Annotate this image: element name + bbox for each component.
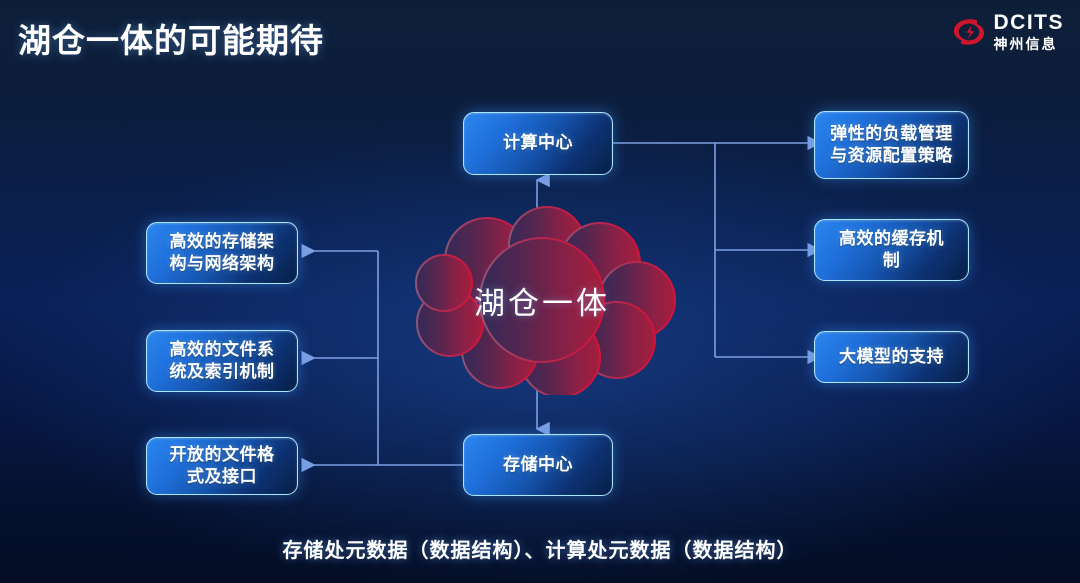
node-storage-architecture-label: 高效的存储架 构与网络架构 xyxy=(170,231,275,276)
node-storage-center-label: 存储中心 xyxy=(503,454,573,476)
node-large-model-support[interactable]: 大模型的支持 xyxy=(814,331,969,383)
footer-caption: 存储处元数据（数据结构）、计算处元数据（数据结构） xyxy=(0,534,1080,563)
node-file-system-label: 高效的文件系 统及索引机制 xyxy=(170,339,275,384)
node-compute-center[interactable]: 计算中心 xyxy=(463,112,613,175)
node-large-model-support-label: 大模型的支持 xyxy=(839,346,944,368)
page-title: 湖仓一体的可能期待 xyxy=(18,14,324,62)
node-file-format[interactable]: 开放的文件格 式及接口 xyxy=(146,437,298,495)
node-cache-mechanism[interactable]: 高效的缓存机 制 xyxy=(814,219,969,281)
node-compute-center-label: 计算中心 xyxy=(503,132,573,154)
node-storage-center[interactable]: 存储中心 xyxy=(463,434,613,496)
logo-text-en: DCITS xyxy=(994,12,1065,33)
node-workload-management-label: 弹性的负载管理 与资源配置策略 xyxy=(830,123,953,168)
cloud-label: 湖仓一体 xyxy=(392,205,692,395)
node-file-format-label: 开放的文件格 式及接口 xyxy=(170,444,275,489)
node-file-system[interactable]: 高效的文件系 统及索引机制 xyxy=(146,330,298,392)
company-logo: DCITS 神州信息 xyxy=(950,12,1065,51)
slide-canvas: 湖仓一体的可能期待 DCITS 神州信息 xyxy=(0,0,1080,583)
dcits-swirl-icon xyxy=(950,15,988,49)
node-cache-mechanism-label: 高效的缓存机 制 xyxy=(839,228,944,273)
node-storage-architecture[interactable]: 高效的存储架 构与网络架构 xyxy=(146,222,298,284)
logo-text-cn: 神州信息 xyxy=(994,37,1065,51)
node-workload-management[interactable]: 弹性的负载管理 与资源配置策略 xyxy=(814,111,969,179)
